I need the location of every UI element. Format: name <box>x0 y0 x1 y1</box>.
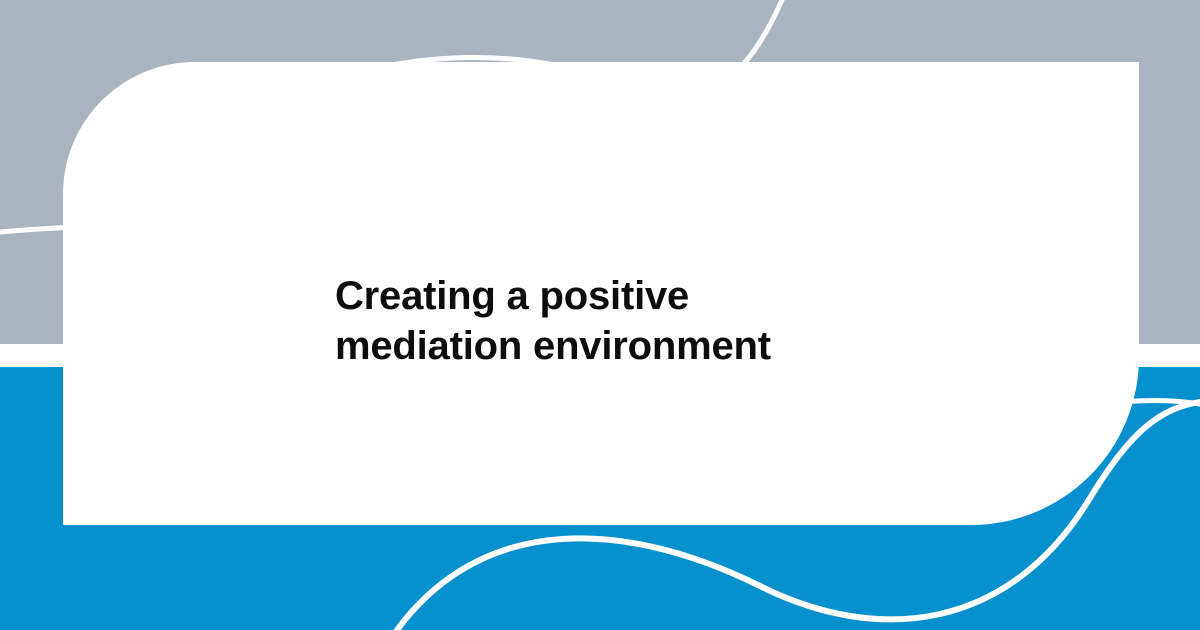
page-title: Creating a positive mediation environmen… <box>335 271 895 372</box>
banner-card: Creating a positive mediation environmen… <box>0 0 1200 630</box>
